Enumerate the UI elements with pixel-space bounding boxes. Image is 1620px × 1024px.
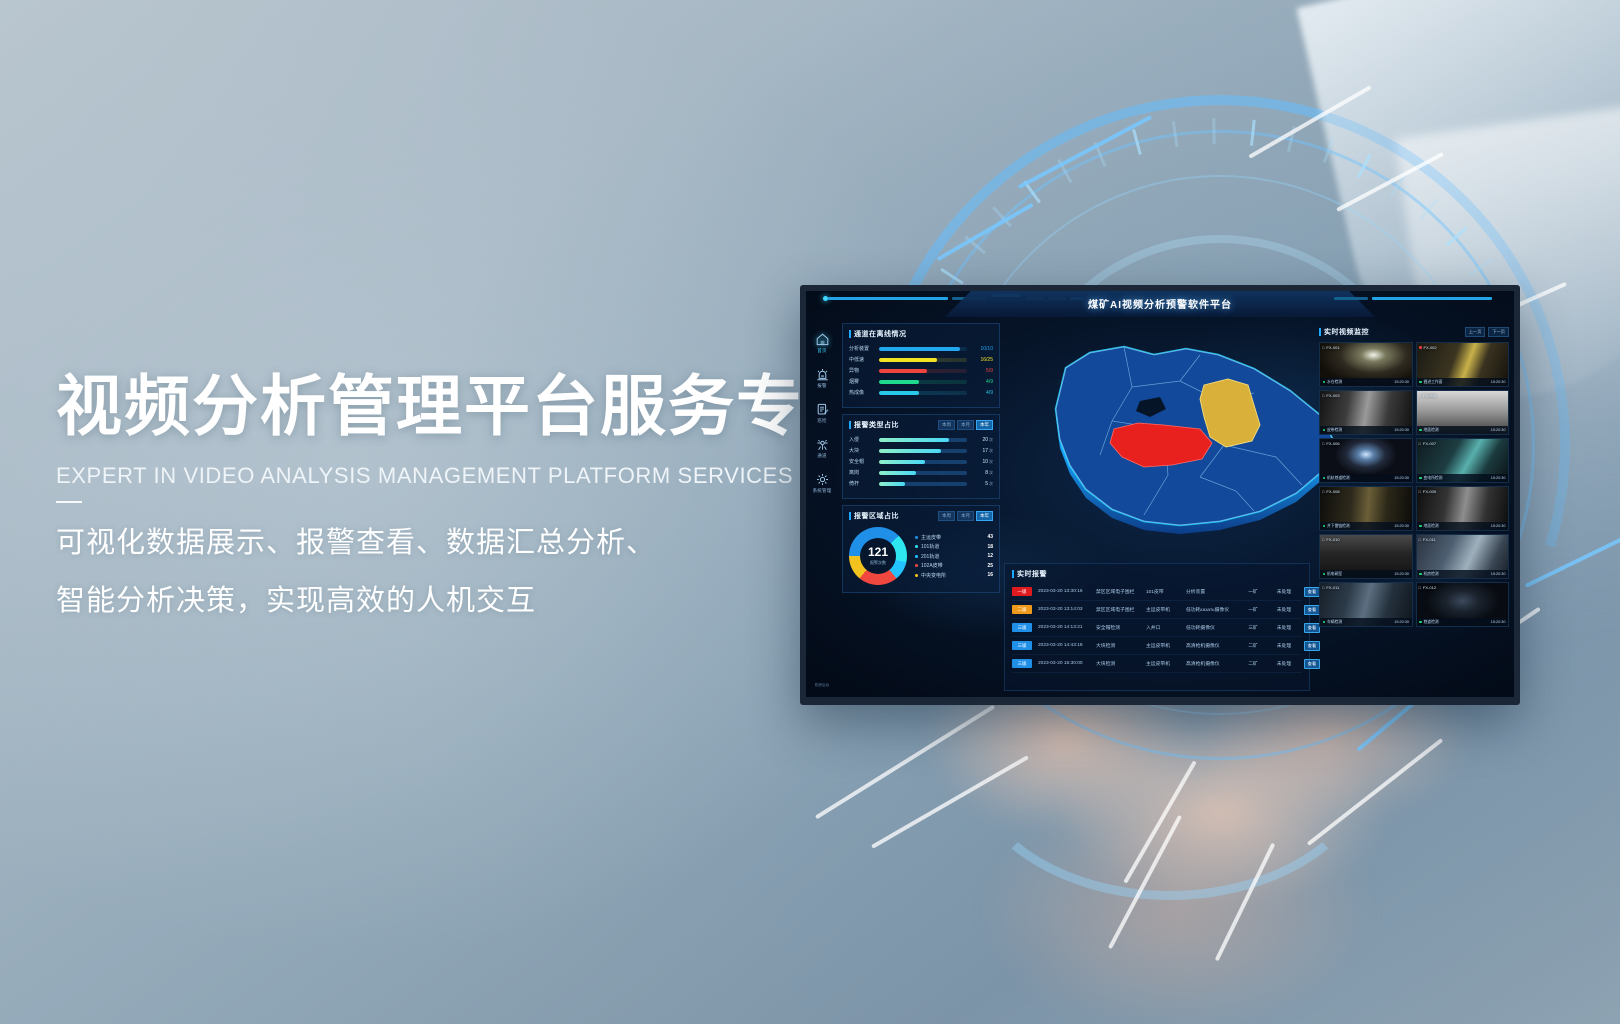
banner-copy: 视频分析管理平台服务专家 EXPERT IN VIDEO ANALYSIS MA… <box>56 372 836 619</box>
alarm-type-rows: 入侵20次大块17次安全帽10次离岗8次倚杆5次 <box>849 436 993 487</box>
alarm-type-bar-fill <box>879 460 925 464</box>
sidebar-item-3[interactable]: 巡检 <box>807 403 837 424</box>
channel-value: 4/9 <box>971 390 993 396</box>
camera-label: 变电所检测 <box>1424 476 1443 481</box>
alarm-type: 大块检测 <box>1096 660 1140 667</box>
alarm-type-value: 10次 <box>971 459 993 465</box>
camera-id: □FX-011 <box>1419 537 1436 542</box>
channel-value: 5/9 <box>971 368 993 374</box>
camera-label: 机房检测 <box>1424 572 1439 577</box>
legend-color-dot <box>915 574 918 577</box>
alarm-area-donut-chart: 121 报警次数 <box>849 527 907 585</box>
alarm-type-bar-fill <box>879 471 916 475</box>
legend-value: 16 <box>987 572 993 578</box>
alarm-type-row: 入侵20次 <box>849 436 993 443</box>
channel-value: 16/25 <box>971 357 993 363</box>
online-dot <box>1419 525 1422 528</box>
video-panel-header: 实时视频监控 上一页 下一页 <box>1319 327 1509 337</box>
online-dot <box>1323 429 1326 432</box>
alarm-type-bar-track <box>879 471 967 475</box>
camera-label: 机电硐室 <box>1327 572 1342 577</box>
camera-footer: 地面检测15:20:30 <box>1417 426 1509 434</box>
camera-footer: 地面检测15:20:30 <box>1417 522 1509 530</box>
camera-time: 15:20:30 <box>1394 476 1409 480</box>
prev-page-button[interactable]: 上一页 <box>1465 327 1486 337</box>
camera-id-text: FX-012 <box>1423 585 1436 590</box>
legend-label: 101轨道 <box>921 543 984 550</box>
panel-title-alarm-type: 报警类型占比 <box>849 420 899 430</box>
camera-tile[interactable]: □FX-012巷道检测15:20:30 <box>1416 582 1510 627</box>
alarm-type-bar-fill <box>879 482 905 486</box>
donut-legend-item: 201轨道12 <box>915 553 993 560</box>
status-badge: 一级 <box>1012 587 1032 596</box>
table-row: 一级2023-03-20 13:30:16禁区区域电子围栏101皮带分析装置一矿… <box>1012 583 1302 601</box>
province-map[interactable] <box>1004 325 1362 557</box>
channel-bar-track <box>879 380 967 384</box>
sidebar-item-4[interactable]: 通道 <box>807 438 837 459</box>
legend-value: 18 <box>987 544 993 550</box>
legend-label: 102A皮带 <box>921 562 984 569</box>
alarm-status: 未处理 <box>1272 624 1296 631</box>
channel-bar-fill <box>879 358 937 362</box>
panel-title-alarm-area: 报警区域占比 <box>849 511 899 521</box>
camera-id-text: FX-004 <box>1423 393 1436 398</box>
camera-id: □FX-004 <box>1419 393 1437 398</box>
alarm-device: 高清枪机摄像仪 <box>1186 642 1234 649</box>
alarm-mine: 二矿 <box>1240 660 1266 667</box>
alarm-location: 入井口 <box>1146 624 1180 631</box>
home-icon <box>816 333 829 346</box>
alarm-type-bar-track <box>879 482 967 486</box>
camera-tile[interactable]: □FX-007变电所检测15:20:30 <box>1416 438 1510 483</box>
donut-center-value: 121 <box>868 546 888 558</box>
donut-legend-item: 主运皮带43 <box>915 534 993 541</box>
alarm-type-period-tabs[interactable]: 本周本月本年 <box>938 420 993 430</box>
alarm-location: 主运皮带机 <box>1146 606 1180 613</box>
alarm-location: 主运皮带机 <box>1146 660 1180 667</box>
camera-id: □FX-008 <box>1322 489 1340 494</box>
app-title: 煤矿AI视频分析预警软件平台 <box>1088 296 1232 311</box>
camera-footer: 变电所检测15:20:30 <box>1417 474 1509 482</box>
camera-id: □FX-012 <box>1419 585 1437 590</box>
camera-id: □FX-007 <box>1419 441 1437 446</box>
channel-name: 中低速 <box>849 356 875 363</box>
camera-footer: 机房检测15:20:30 <box>1417 570 1509 578</box>
camera-footer: 掘进工作面15:20:30 <box>1417 378 1509 386</box>
alarm-type-name: 安全帽 <box>849 458 875 465</box>
online-dot <box>1323 525 1326 528</box>
alarm-type-bar-track <box>879 460 967 464</box>
donut-center: 121 报警次数 <box>860 538 896 574</box>
channel-bar-track <box>879 347 967 351</box>
online-dot <box>1323 573 1326 576</box>
channel-bar-fill <box>879 391 919 395</box>
legend-color-dot <box>915 564 918 567</box>
alarm-type-tab-1[interactable]: 本周 <box>938 420 955 430</box>
alarm-time: 2023-03-20 14:43:18 <box>1038 643 1090 648</box>
alarm-type-row: 倚杆5次 <box>849 480 993 487</box>
alarm-type-name: 倚杆 <box>849 480 875 487</box>
description-line-2: 智能分析决策，实现高效的人机交互 <box>56 577 836 619</box>
alarm-device: 高清枪机摄像仪 <box>1186 660 1234 667</box>
alarm-mine: 一矿 <box>1240 606 1266 613</box>
channel-status-row: 热成像4/9 <box>849 389 993 396</box>
table-row: 二级2023-03-20 13:14:03禁区区域电子围栏主运皮带机低功耗каз… <box>1012 601 1302 619</box>
alarm-type-value: 8次 <box>971 470 993 476</box>
camera-id: □FX-006 <box>1322 441 1340 446</box>
alarm-type-bar-track <box>879 438 967 442</box>
camera-id-text: FX-003 <box>1326 393 1339 398</box>
alarm-type-name: 大块 <box>849 447 875 454</box>
camera-time: 15:20:30 <box>1394 524 1409 528</box>
alarm-type-row: 安全帽10次 <box>849 458 993 465</box>
alarm-type-bar-track <box>879 449 967 453</box>
panel-header: 报警区域占比 本周本月本年 <box>849 511 993 521</box>
camera-tile[interactable]: □FX-008井下雷链检测15:20:30 <box>1319 486 1413 531</box>
camera-id-text: FX-011 <box>1423 537 1436 542</box>
alarm-location: 主运皮带机 <box>1146 642 1180 649</box>
inspection-icon <box>816 403 829 416</box>
alarm-time: 2023-03-20 15:30:00 <box>1038 661 1090 666</box>
alarm-device: 低功耗摄像仪 <box>1186 624 1234 631</box>
alarm-type-tab-2[interactable]: 本月 <box>957 420 974 430</box>
alarm-area-tab-1[interactable]: 本周 <box>938 511 955 521</box>
camera-footer: 水仓检测15:20:30 <box>1320 378 1412 386</box>
camera-grid: □FX-001水仓检测15:20:30FX-002掘进工作面15:20:30□F… <box>1319 342 1509 627</box>
panel-title-channel-status: 通道在离线情况 <box>849 329 907 339</box>
alarm-type: 大块检测 <box>1096 642 1140 649</box>
donut-legend-item: 101轨道18 <box>915 543 993 550</box>
status-badge: 三级 <box>1012 659 1032 668</box>
camera-footer: 皮带检测15:20:30 <box>1320 426 1412 434</box>
channel-bar-track <box>879 369 967 373</box>
camera-id-text: FX-008 <box>1326 489 1339 494</box>
camera-time: 15:20:30 <box>1491 476 1506 480</box>
sidebar-item-label: 通道 <box>817 453 826 459</box>
alarm-type-value: 20次 <box>971 437 993 443</box>
donut-legend-item: 102A皮带25 <box>915 562 993 569</box>
status-badge: 三级 <box>1012 623 1032 632</box>
channel-status-row: 分析装置10/10 <box>849 345 993 352</box>
camera-label: 水仓检测 <box>1327 380 1342 385</box>
alarm-type-value: 5次 <box>971 481 993 487</box>
alarm-device: 低功耗казать摄像仪 <box>1186 606 1234 613</box>
online-dot <box>1419 429 1422 432</box>
channel-bar-fill <box>879 347 960 351</box>
alarm-status: 未处理 <box>1272 660 1296 667</box>
camera-tile[interactable]: □FX-010机电硐室15:20:30 <box>1319 534 1413 579</box>
camera-tile[interactable]: □FX-011车辆检测15:20:30 <box>1319 582 1413 627</box>
alarm-mine: 一矿 <box>1240 588 1266 595</box>
left-panel-column: 通道在离线情况 分析装置10/10中低速16/25异物5/9烟雾4/9热成像4/… <box>842 323 1000 599</box>
online-dot <box>1323 621 1326 624</box>
camera-id-text: FX-006 <box>1326 441 1339 446</box>
marketing-banner: 视频分析管理平台服务专家 EXPERT IN VIDEO ANALYSIS MA… <box>0 0 1620 1024</box>
camera-id: FX-002 <box>1419 345 1437 350</box>
camera-label: 地面检测 <box>1424 428 1439 433</box>
panel-channel-status: 通道在离线情况 分析装置10/10中低速16/25异物5/9烟雾4/9热成像4/… <box>842 323 1000 408</box>
camera-id-text: FX-011 <box>1326 585 1339 590</box>
alarm-time: 2023-03-20 13:14:03 <box>1038 607 1090 612</box>
dashboard-top-bar: 煤矿AI视频分析预警软件平台 <box>806 291 1514 321</box>
channel-status-row: 异物5/9 <box>849 367 993 374</box>
legend-value: 25 <box>987 563 993 569</box>
hud-bar-left-1 <box>828 297 948 300</box>
divider-rule <box>56 501 82 503</box>
alarm-mine: 二矿 <box>1240 642 1266 649</box>
alarm-type: 禁区区域电子围栏 <box>1096 606 1140 613</box>
monitor-bezel: 煤矿AI视频分析预警软件平台 首页报警巡检通道系统管理机房后台 通道在离线情况 … <box>800 285 1520 705</box>
alarm-status: 未处理 <box>1272 606 1296 613</box>
sidebar-item-5[interactable]: 系统管理 <box>807 473 837 494</box>
alarm-area-period-tabs[interactable]: 本周本月本年 <box>938 511 993 521</box>
channel-icon <box>816 438 829 451</box>
alarm-type-bar-fill <box>879 438 949 442</box>
status-badge: 二级 <box>1012 605 1032 614</box>
donut-chart-wrap: 121 报警次数 主运皮带43101轨道18201轨道12102A皮带25中央变… <box>849 527 993 585</box>
hud-bar-right-1 <box>1372 297 1492 300</box>
online-dot <box>1323 381 1326 384</box>
camera-id: □FX-003 <box>1322 393 1340 398</box>
alarm-area-tab-2[interactable]: 本月 <box>957 511 974 521</box>
camera-footer: 车辆检测15:20:30 <box>1320 618 1412 626</box>
alarm-type-value: 17次 <box>971 448 993 454</box>
table-row: 三级2023-03-20 14:43:18大块检测主运皮带机高清枪机摄像仪二矿未… <box>1012 637 1302 655</box>
camera-tile[interactable]: FX-002掘进工作面15:20:30 <box>1416 342 1510 387</box>
gear-icon <box>816 473 829 486</box>
channel-name: 异物 <box>849 367 875 374</box>
camera-id-text: FX-007 <box>1423 441 1436 446</box>
alarm-location: 101皮带 <box>1146 588 1180 595</box>
sidebar-item-2[interactable]: 报警 <box>807 368 837 389</box>
camera-footer: 巷道检测15:20:30 <box>1417 618 1509 626</box>
camera-time: 15:20:30 <box>1491 380 1506 384</box>
camera-label: 车辆检测 <box>1327 620 1342 625</box>
channel-status-rows: 分析装置10/10中低速16/25异物5/9烟雾4/9热成像4/9 <box>849 345 993 396</box>
camera-id: □FX-011 <box>1322 585 1339 590</box>
channel-bar-fill <box>879 369 927 373</box>
sidebar-footer: 机房后台 <box>815 683 829 689</box>
panel-alarm-type: 报警类型占比 本周本月本年 入侵20次大块17次安全帽10次离岗8次倚杆5次 <box>842 414 1000 499</box>
page-title: 视频分析管理平台服务专家 <box>56 372 836 441</box>
camera-id-text: FX-001 <box>1326 345 1339 350</box>
camera-time: 15:20:30 <box>1491 620 1506 624</box>
camera-label: 机轨巷道检测 <box>1327 476 1350 481</box>
camera-tile[interactable]: □FX-006机轨巷道检测15:20:30 <box>1319 438 1413 483</box>
table-row: 三级2023-03-20 15:30:00大块检测主运皮带机高清枪机摄像仪二矿未… <box>1012 655 1302 673</box>
alarm-icon <box>816 368 829 381</box>
legend-color-dot <box>915 545 918 548</box>
camera-id: □FX-009 <box>1419 489 1437 494</box>
online-dot <box>1419 381 1422 384</box>
realtime-alarm-table: 一级2023-03-20 13:30:16禁区区域电子围栏101皮带分析装置一矿… <box>1012 583 1302 673</box>
next-page-button[interactable]: 下一页 <box>1488 327 1509 337</box>
panel-alarm-area: 报警区域占比 本周本月本年 121 报警次数 主运皮带43101轨道18201轨… <box>842 505 1000 593</box>
sidebar-item-label: 系统管理 <box>813 488 832 494</box>
table-row: 三级2023-03-20 14:13:21安全帽检测入井口低功耗摄像仪三矿未处理… <box>1012 619 1302 637</box>
panel-header: 通道在离线情况 <box>849 329 993 339</box>
legend-value: 12 <box>987 553 993 559</box>
legend-color-dot <box>915 555 918 558</box>
donut-legend-item: 中央变电所16 <box>915 572 993 579</box>
panel-title-realtime-alarm: 实时报警 <box>1012 569 1302 579</box>
channel-value: 4/9 <box>971 379 993 385</box>
camera-label: 巷道检测 <box>1424 620 1439 625</box>
camera-time: 15:20:30 <box>1394 428 1409 432</box>
legend-value: 43 <box>987 534 993 540</box>
legend-label: 中央变电所 <box>921 572 984 579</box>
channel-bar-fill <box>879 380 919 384</box>
sidebar-item-label: 巡检 <box>817 418 826 424</box>
alarm-status: 未处理 <box>1272 642 1296 649</box>
alarm-status: 未处理 <box>1272 588 1296 595</box>
online-dot <box>1419 477 1422 480</box>
camera-id: □FX-010 <box>1322 537 1340 542</box>
donut-center-caption: 报警次数 <box>870 560 886 566</box>
online-dot <box>1419 573 1422 576</box>
camera-id-text: FX-010 <box>1326 537 1339 542</box>
legend-label: 201轨道 <box>921 553 984 560</box>
channel-status-row: 中低速16/25 <box>849 356 993 363</box>
alarm-type-name: 离岗 <box>849 469 875 476</box>
camera-label: 皮带检测 <box>1327 428 1342 433</box>
camera-footer: 机电硐室15:20:30 <box>1320 570 1412 578</box>
recording-indicator <box>1419 346 1422 349</box>
alarm-mine: 三矿 <box>1240 624 1266 631</box>
dashboard-screen: 煤矿AI视频分析预警软件平台 首页报警巡检通道系统管理机房后台 通道在离线情况 … <box>806 291 1514 697</box>
hud-tick <box>1212 118 1215 144</box>
alarm-time: 2023-03-20 14:13:21 <box>1038 625 1090 630</box>
description-line-1: 可视化数据展示、报警查看、数据汇总分析、 <box>56 519 836 561</box>
panel-video-monitor: 实时视频监控 上一页 下一页 □FX-001水仓检测15:20:30FX-002… <box>1314 323 1514 691</box>
camera-time: 15:20:30 <box>1491 524 1506 528</box>
channel-name: 分析装置 <box>849 345 875 352</box>
legend-label: 主运皮带 <box>921 534 984 541</box>
alarm-time: 2023-03-20 13:30:16 <box>1038 589 1090 594</box>
online-dot <box>1323 477 1326 480</box>
donut-legend: 主运皮带43101轨道18201轨道12102A皮带25中央变电所16 <box>915 531 993 581</box>
camera-label: 井下雷链检测 <box>1327 524 1350 529</box>
camera-time: 15:20:30 <box>1394 620 1409 624</box>
alarm-type-tab-3[interactable]: 本年 <box>976 420 993 430</box>
camera-id: □FX-001 <box>1322 345 1340 350</box>
camera-time: 15:20:30 <box>1394 380 1409 384</box>
panel-header: 报警类型占比 本周本月本年 <box>849 420 993 430</box>
alarm-device: 分析装置 <box>1186 588 1234 595</box>
alarm-type-name: 入侵 <box>849 436 875 443</box>
camera-tile[interactable]: □FX-003皮带检测15:20:30 <box>1319 390 1413 435</box>
channel-value: 10/10 <box>971 346 993 352</box>
camera-tile[interactable]: □FX-001水仓检测15:20:30 <box>1319 342 1413 387</box>
camera-time: 15:20:30 <box>1491 428 1506 432</box>
camera-label: 掘进工作面 <box>1424 380 1443 385</box>
camera-footer: 机轨巷道检测15:20:30 <box>1320 474 1412 482</box>
camera-tile[interactable]: □FX-004地面检测15:20:30 <box>1416 390 1510 435</box>
camera-time: 15:20:30 <box>1491 572 1506 576</box>
online-dot <box>1419 621 1422 624</box>
camera-footer: 井下雷链检测15:20:30 <box>1320 522 1412 530</box>
legend-color-dot <box>915 536 918 539</box>
channel-bar-track <box>879 391 967 395</box>
camera-tile[interactable]: □FX-011机房检测15:20:30 <box>1416 534 1510 579</box>
alarm-area-tab-3[interactable]: 本年 <box>976 511 993 521</box>
sidebar-item-label: 首页 <box>817 348 826 354</box>
channel-bar-track <box>879 358 967 362</box>
channel-name: 烟雾 <box>849 378 875 385</box>
alarm-type: 安全帽检测 <box>1096 624 1140 631</box>
sidebar-item-label: 报警 <box>817 383 826 389</box>
video-pagination[interactable]: 上一页 下一页 <box>1465 327 1509 337</box>
panel-title-video-monitor: 实时视频监控 <box>1319 327 1369 337</box>
sidebar-item-1[interactable]: 首页 <box>807 333 837 354</box>
camera-id-text: FX-002 <box>1424 345 1437 350</box>
status-badge: 三级 <box>1012 641 1032 650</box>
camera-time: 15:20:30 <box>1394 572 1409 576</box>
alarm-type-row: 大块17次 <box>849 447 993 454</box>
channel-status-row: 烟雾4/9 <box>849 378 993 385</box>
hud-bar-right-2 <box>1334 297 1368 300</box>
camera-id-text: FX-009 <box>1423 489 1436 494</box>
camera-label: 地面检测 <box>1424 524 1439 529</box>
channel-name: 热成像 <box>849 389 875 396</box>
panel-realtime-alarm: 实时报警 一级2023-03-20 13:30:16禁区区域电子围栏101皮带分… <box>1004 563 1310 691</box>
alarm-type: 禁区区域电子围栏 <box>1096 588 1140 595</box>
alarm-type-bar-fill <box>879 449 941 453</box>
sidebar-nav[interactable]: 首页报警巡检通道系统管理机房后台 <box>806 319 838 697</box>
camera-tile[interactable]: □FX-009地面检测15:20:30 <box>1416 486 1510 531</box>
page-subtitle: EXPERT IN VIDEO ANALYSIS MANAGEMENT PLAT… <box>56 463 836 489</box>
alarm-type-row: 离岗8次 <box>849 469 993 476</box>
